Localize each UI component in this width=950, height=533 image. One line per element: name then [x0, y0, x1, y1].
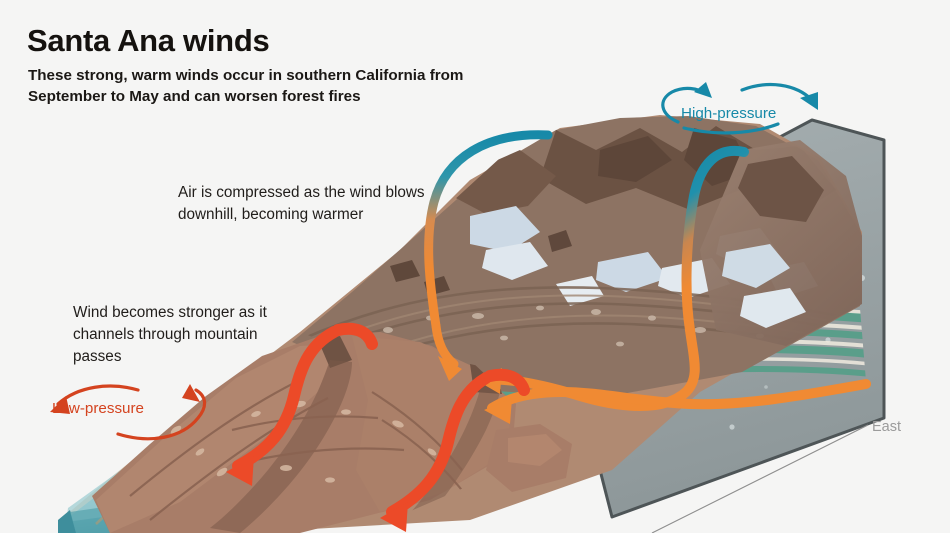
page-title: Santa Ana winds	[27, 23, 269, 59]
label-low-pressure: Low-pressure	[52, 400, 144, 417]
annotation-compressed-air: Air is compressed as the wind blows down…	[178, 182, 448, 226]
label-high-pressure: High-pressure	[681, 105, 776, 122]
page-subtitle: These strong, warm winds occur in southe…	[28, 66, 528, 107]
label-direction-east: East	[872, 419, 901, 435]
infographic-root: Santa Ana winds These strong, warm winds…	[0, 0, 950, 533]
annotation-channeling: Wind becomes stronger as it channels thr…	[73, 302, 303, 368]
